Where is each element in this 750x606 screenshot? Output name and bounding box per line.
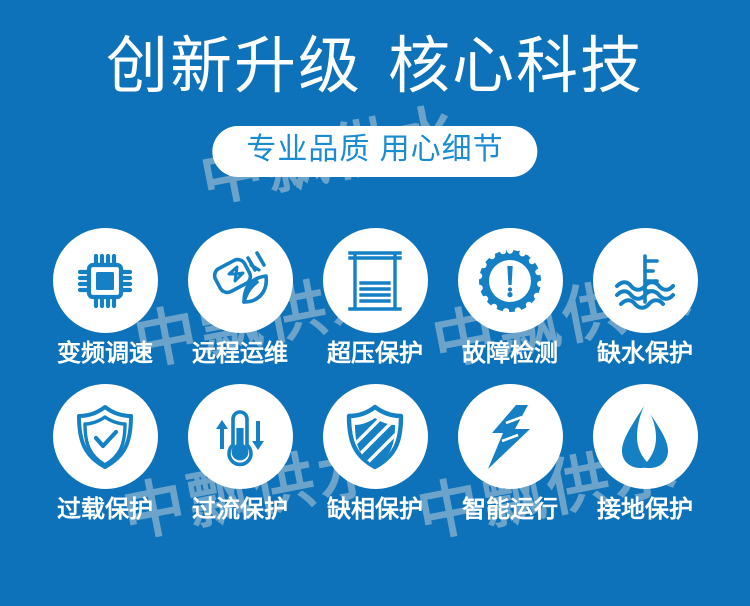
feature-label: 故障检测	[462, 342, 558, 366]
feature-label: 变频调速	[57, 342, 153, 366]
press-machine-icon	[346, 248, 404, 314]
feature-grid: 变频调速	[0, 228, 750, 540]
feature-item[interactable]: 智能运行	[458, 384, 563, 522]
feature-row-2: 过载保护	[0, 384, 750, 522]
cpu-chip-icon	[73, 249, 137, 313]
feature-label: 远程运维	[192, 342, 288, 366]
feature-label: 缺相保护	[327, 498, 423, 522]
water-drop-leaf-icon	[614, 403, 676, 471]
icon-disc	[53, 228, 158, 333]
icon-disc	[188, 384, 293, 489]
icon-disc	[458, 384, 563, 489]
gear-alert-icon	[477, 248, 543, 314]
page-title: 创新升级核心科技	[0, 36, 750, 98]
page-title-left: 创新升级	[106, 32, 362, 101]
icon-disc	[53, 384, 158, 489]
feature-item[interactable]: 过载保护	[53, 384, 158, 522]
feature-label: 缺水保护	[597, 342, 693, 366]
feature-label: 智能运行	[462, 498, 558, 522]
feature-row-1: 变频调速	[0, 228, 750, 366]
lightning-bolt-icon	[482, 403, 538, 471]
feature-item[interactable]: 超压保护	[323, 228, 428, 366]
shield-check-icon	[74, 404, 136, 470]
feature-label: 超压保护	[327, 342, 423, 366]
feature-item[interactable]: 缺水保护	[593, 228, 698, 366]
feature-item[interactable]: 过流保护	[188, 384, 293, 522]
feature-item[interactable]: 缺相保护	[323, 384, 428, 522]
icon-disc	[458, 228, 563, 333]
icon-disc	[323, 384, 428, 489]
icon-disc	[188, 228, 293, 333]
icon-disc	[323, 228, 428, 333]
subtitle-pill: 专业品质 用心细节	[212, 126, 537, 177]
icon-disc	[593, 228, 698, 333]
promo-banner: 中飘供水 中飘供水 中飘供水 中飘供水 中飘供水 创新升级核心科技 专业品质 用…	[0, 0, 750, 606]
page-title-right: 核心科技	[388, 32, 644, 101]
feature-item[interactable]: 远程运维	[188, 228, 293, 366]
feature-label: 过流保护	[192, 498, 288, 522]
thermometer-arrows-icon	[208, 404, 272, 470]
feature-item[interactable]: 变频调速	[53, 228, 158, 366]
icon-disc	[593, 384, 698, 489]
feature-item[interactable]: 接地保护	[593, 384, 698, 522]
shield-stripes-icon	[344, 404, 406, 470]
plug-leaf-icon	[207, 249, 273, 313]
feature-item[interactable]: 故障检测	[458, 228, 563, 366]
feature-label: 接地保护	[597, 498, 693, 522]
feature-label: 过载保护	[57, 498, 153, 522]
water-level-gauge-icon	[611, 250, 679, 312]
